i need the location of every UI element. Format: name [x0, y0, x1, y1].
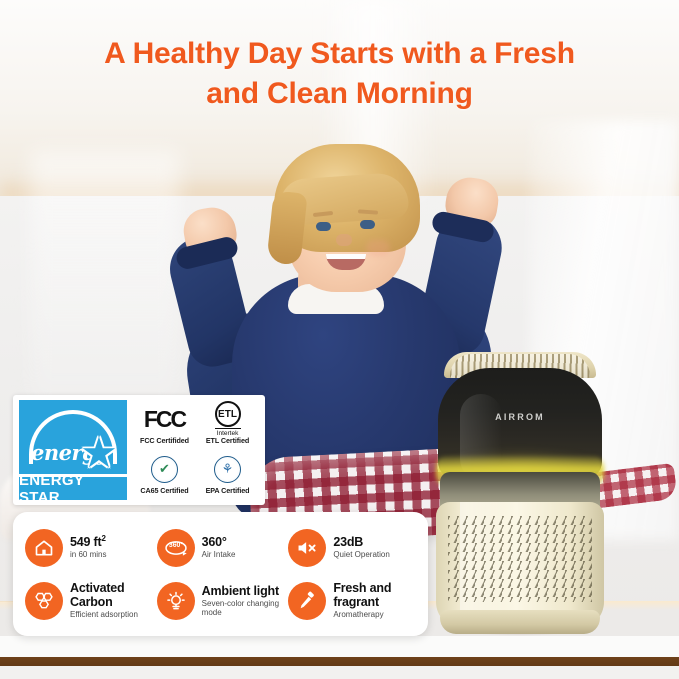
- feature-item-air-intake: 360° 360° Air Intake: [157, 522, 289, 573]
- cert-item-epa: ⚘ EPA Certified: [196, 450, 259, 500]
- air-purifier-product: AIRROM: [430, 352, 610, 640]
- wall-panel-left: [30, 150, 180, 400]
- feature-title-carbon: Activated Carbon: [70, 581, 157, 609]
- product-marketing-image: AIRROM A Healthy Day Starts with a Fresh…: [0, 0, 679, 679]
- cert-item-fcc: FCC FCC Certifided: [133, 400, 196, 450]
- feature-sub-coverage: in 60 mins: [70, 551, 106, 560]
- star-icon: ★: [79, 434, 119, 474]
- headline-line-1: A Healthy Day Starts with a Fresh: [104, 37, 575, 70]
- brand-logo: AIRROM: [438, 412, 602, 422]
- page-title: A Healthy Day Starts with a Fresh and Cl…: [0, 34, 679, 114]
- eye-right: [360, 220, 375, 229]
- feature-title-ambient-light: Ambient light: [202, 584, 289, 598]
- fcc-icon: FCC: [144, 405, 185, 433]
- product-base: [440, 610, 600, 634]
- cert-caption-fcc: FCC Certifided: [140, 436, 189, 445]
- eye-left: [316, 222, 331, 231]
- floor-strip: [0, 666, 679, 679]
- feature-sup-coverage: 2: [101, 534, 105, 543]
- cert-caption-ca65: CA65 Certified: [140, 486, 188, 495]
- mute-speaker-icon: [288, 529, 326, 567]
- headline-line-2: and Clean Morning: [0, 74, 679, 114]
- cert-caption-etl: ETL Certified: [206, 436, 249, 445]
- feature-sub-carbon: Efficient adsorption: [70, 611, 157, 620]
- nose: [336, 234, 352, 246]
- feature-sub-noise: Quiet Operation: [333, 551, 389, 560]
- body-perforations: [448, 516, 592, 602]
- certification-panel: energy ★ ENERGY STAR FCC FCC Certifided …: [13, 395, 265, 505]
- feature-item-noise: 23dB Quiet Operation: [288, 522, 420, 573]
- etl-ring: ETL: [215, 401, 241, 427]
- energy-star-band: ENERGY STAR: [19, 474, 127, 500]
- feature-title-fragrance: Fresh and fragrant: [333, 581, 420, 609]
- feature-highlights-card: 549 ft2 in 60 mins 360° 360° Air Intake: [13, 512, 428, 636]
- ca65-seal-icon: ✔: [151, 455, 178, 483]
- feature-sub-fragrance: Aromatherapy: [333, 611, 420, 620]
- feature-sub-air-intake: Air Intake: [202, 551, 236, 560]
- svg-text:360°: 360°: [169, 541, 183, 549]
- feature-title-noise: 23dB: [333, 535, 389, 549]
- certification-marks-grid: FCC FCC Certifided ETL Intertek ETL Cert…: [127, 400, 259, 500]
- feature-sub-ambient-light: Seven-color changing mode: [202, 600, 289, 618]
- feature-title-air-intake: 360°: [202, 535, 236, 549]
- cheek: [366, 240, 390, 256]
- cert-item-etl: ETL Intertek ETL Certified: [196, 400, 259, 450]
- dropper-icon: [288, 582, 326, 620]
- energy-star-logo: energy ★ ENERGY STAR: [19, 400, 127, 500]
- feature-title-coverage: 549 ft: [70, 535, 101, 549]
- etl-icon: ETL Intertek: [215, 405, 241, 433]
- cert-caption-epa: EPA Certified: [206, 486, 250, 495]
- cert-item-ca65: ✔ CA65 Certified: [133, 450, 196, 500]
- lightbulb-icon: [157, 582, 195, 620]
- feature-item-ambient-light: Ambient light Seven-color changing mode: [157, 575, 289, 626]
- feature-item-fragrance: Fresh and fragrant Aromatherapy: [288, 575, 420, 626]
- honeycomb-icon: [25, 582, 63, 620]
- feature-item-carbon: Activated Carbon Efficient adsorption: [25, 575, 157, 626]
- house-icon: [25, 529, 63, 567]
- epa-seal-icon: ⚘: [214, 455, 241, 483]
- feature-item-coverage: 549 ft2 in 60 mins: [25, 522, 157, 573]
- rotation-360-icon: 360°: [157, 529, 195, 567]
